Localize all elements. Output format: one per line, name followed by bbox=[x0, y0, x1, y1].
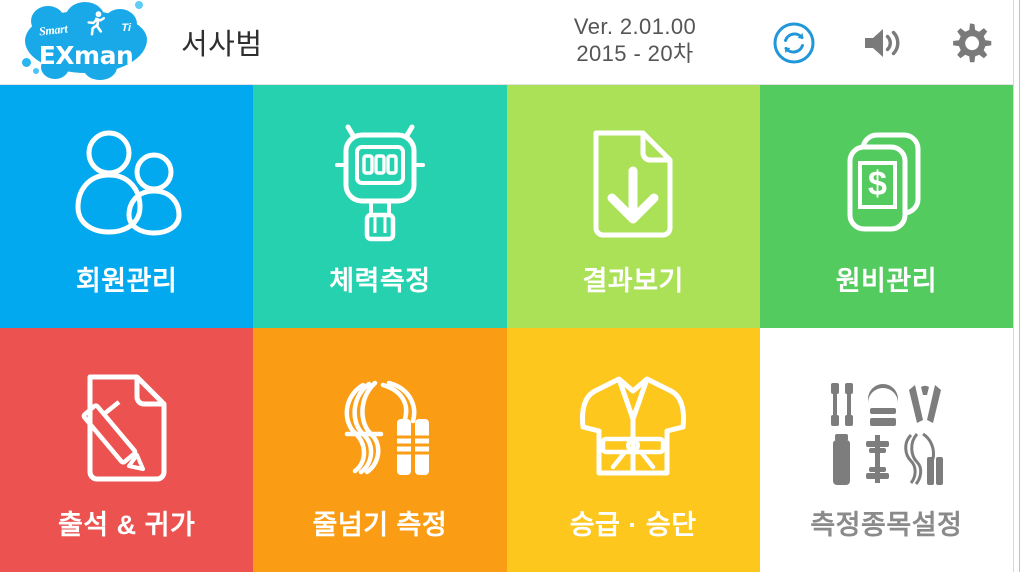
tile-view-results[interactable]: 결과보기 bbox=[507, 85, 760, 328]
vertical-scrollbar[interactable] bbox=[1013, 0, 1020, 572]
tile-label: 측정종목설정 bbox=[810, 503, 962, 542]
logo-dot bbox=[135, 1, 143, 9]
logo-brand-text: EXman bbox=[25, 41, 147, 70]
tile-label: 승급 · 승단 bbox=[570, 503, 697, 542]
sync-icon[interactable] bbox=[771, 20, 817, 66]
fitness-equipment-icon bbox=[823, 359, 949, 489]
tile-measurement-settings[interactable]: 측정종목설정 bbox=[760, 328, 1013, 572]
martial-arts-uniform-icon bbox=[567, 359, 699, 489]
menu-grid: 회원관리 체력측정 bbox=[0, 85, 1013, 572]
running-man-icon bbox=[79, 9, 109, 44]
logo-ti-text: Ti bbox=[121, 22, 131, 34]
version-edition: 2015 - 20차 bbox=[560, 41, 710, 68]
tile-attendance-departure[interactable]: 출석 & 귀가 bbox=[0, 328, 253, 572]
measuring-device-icon bbox=[321, 115, 439, 245]
tile-label: 줄넘기 측정 bbox=[313, 503, 448, 542]
version-info: Ver. 2.01.00 2015 - 20차 bbox=[560, 14, 710, 68]
svg-text:$: $ bbox=[868, 165, 887, 203]
tile-label: 출석 & 귀가 bbox=[58, 503, 195, 542]
page-title: 서사범 bbox=[181, 21, 263, 63]
app-root: Smart Ti EXman 서사범 Ver. 2.01.00 2015 - 2… bbox=[0, 0, 1020, 572]
tile-tuition-management[interactable]: $ 원비관리 bbox=[760, 85, 1013, 328]
app-header: Smart Ti EXman 서사범 Ver. 2.01.00 2015 - 2… bbox=[0, 0, 1013, 85]
jump-rope-icon bbox=[321, 359, 439, 489]
logo-smart-text: Smart bbox=[38, 22, 68, 40]
two-people-icon bbox=[66, 115, 188, 245]
tile-label: 체력측정 bbox=[329, 259, 430, 298]
document-download-icon bbox=[577, 115, 689, 245]
tile-fitness-measurement[interactable]: 체력측정 bbox=[253, 85, 506, 328]
tile-label: 원비관리 bbox=[836, 259, 937, 298]
gear-icon[interactable] bbox=[947, 20, 993, 66]
header-icon-group bbox=[771, 0, 993, 85]
tile-promotion[interactable]: 승급 · 승단 bbox=[507, 328, 760, 572]
exman-logo[interactable]: Smart Ti EXman bbox=[25, 11, 147, 73]
money-bills-icon: $ bbox=[830, 115, 942, 245]
document-pencil-icon bbox=[71, 359, 183, 489]
volume-icon[interactable] bbox=[859, 20, 905, 66]
tile-member-management[interactable]: 회원관리 bbox=[0, 85, 253, 328]
tile-label: 결과보기 bbox=[582, 259, 683, 298]
tile-jumprope-measurement[interactable]: 줄넘기 측정 bbox=[253, 328, 506, 572]
version-number: Ver. 2.01.00 bbox=[560, 14, 710, 41]
tile-label: 회원관리 bbox=[76, 259, 177, 298]
